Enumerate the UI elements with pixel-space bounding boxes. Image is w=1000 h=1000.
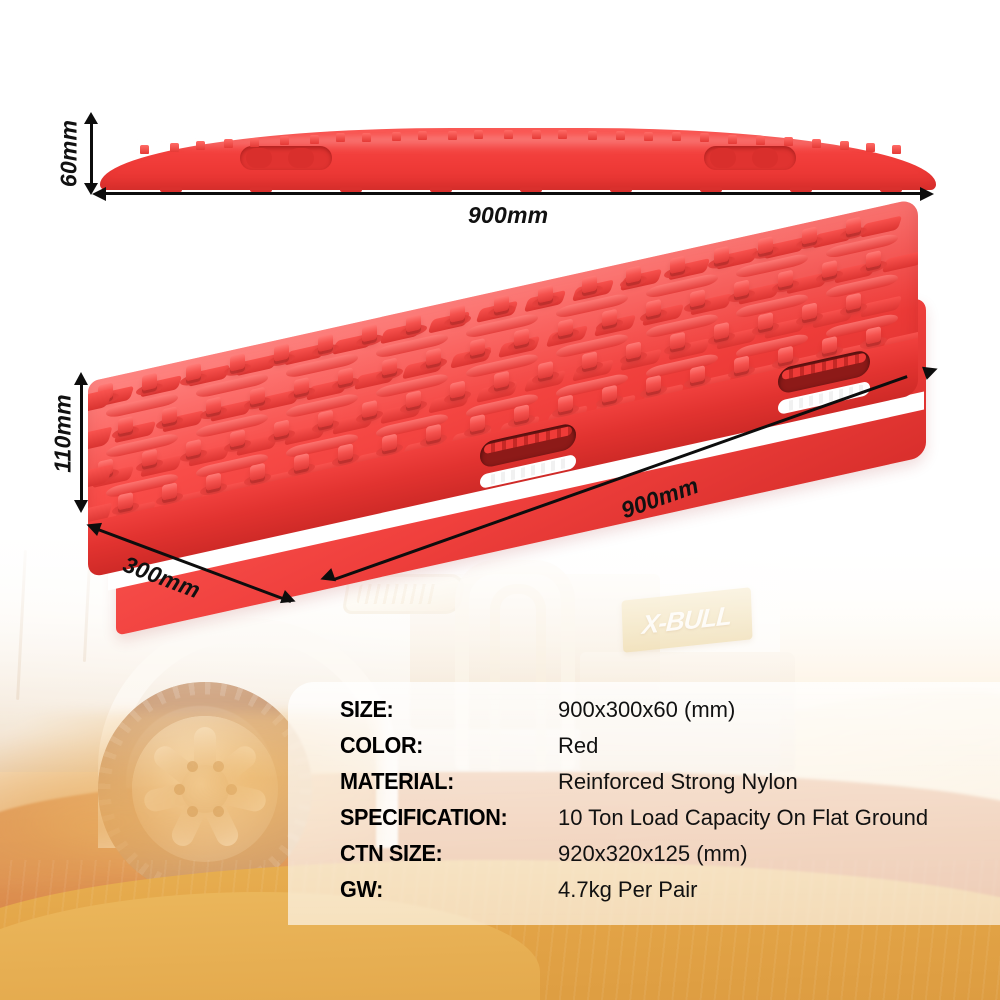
side-profile-tread-stud	[280, 136, 289, 145]
product-infographic: X-BULL	[0, 0, 1000, 1000]
spec-value: 4.7kg Per Pair	[558, 877, 697, 903]
side-profile-tread-stud	[644, 132, 653, 141]
side-profile-tread-stud	[448, 131, 457, 140]
side-profile-tread-stud	[588, 131, 597, 140]
spec-label: GW:	[340, 876, 545, 903]
dim-60-arrow-up	[84, 112, 98, 124]
side-profile-tread-stud	[700, 133, 709, 142]
spec-row: SPECIFICATION:10 Ton Load Capacity On Fl…	[340, 804, 1000, 840]
side-profile-tread-stud	[616, 131, 625, 140]
side-profile-tread-stud	[224, 139, 233, 148]
side-profile-tread-stud	[672, 132, 681, 141]
side-profile-tread-stud	[892, 145, 901, 154]
dim-900s-arrow-left	[92, 187, 106, 201]
spec-value: 900x300x60 (mm)	[558, 697, 735, 723]
dim-900m-label: 900mm	[617, 472, 702, 524]
dim-900s-arrow-right	[920, 187, 934, 201]
dim-900m-arrow-left	[318, 568, 336, 586]
dim-110-line	[80, 384, 83, 502]
side-profile-tread-stud	[728, 135, 737, 144]
dimension-900mm-main: 900mm	[316, 372, 956, 602]
side-profile-body	[100, 128, 936, 190]
side-profile-tread-stud	[310, 135, 319, 144]
dimension-300mm: 300mm	[88, 520, 308, 600]
spec-label: SPECIFICATION:	[340, 804, 545, 831]
side-handle-cutout-left	[240, 146, 332, 170]
spec-value: 920x320x125 (mm)	[558, 841, 748, 867]
side-profile-tread-stud	[866, 143, 875, 152]
specification-panel: SIZE:900x300x60 (mm)COLOR:RedMATERIAL:Re…	[288, 682, 1000, 925]
dim-110-arrow-down	[74, 500, 88, 513]
side-profile-tread-stud	[336, 133, 345, 142]
spec-value: Red	[558, 733, 598, 759]
dim-60-line	[90, 122, 93, 184]
side-profile-tread-stud	[362, 133, 371, 142]
spec-value: 10 Ton Load Capacity On Flat Ground	[558, 805, 928, 831]
door-seam	[16, 550, 27, 700]
dim-900s-line	[104, 192, 924, 195]
spec-label: MATERIAL:	[340, 768, 545, 795]
dim-900m-line	[333, 375, 907, 581]
dim-110-label: 110mm	[50, 375, 77, 493]
side-profile-tread-stud	[140, 145, 149, 154]
side-profile-tread-stud	[812, 139, 821, 148]
side-profile-tread-stud	[504, 130, 513, 139]
spec-row: CTN SIZE:920x320x125 (mm)	[340, 840, 1000, 876]
spec-row: SIZE:900x300x60 (mm)	[340, 696, 1000, 732]
side-profile-tread-stud	[532, 130, 541, 139]
brand-logo-text: X-BULL	[641, 600, 732, 641]
side-profile-tread-stud	[196, 141, 205, 150]
spec-label: SIZE:	[340, 696, 545, 723]
side-profile-tread-stud	[392, 132, 401, 141]
side-profile-tread-stud	[756, 136, 765, 145]
side-handle-cutout-right	[704, 146, 796, 170]
spec-label: COLOR:	[340, 732, 545, 759]
spec-value: Reinforced Strong Nylon	[558, 769, 798, 795]
side-profile-tread-stud	[418, 131, 427, 140]
side-profile-tread-stud	[784, 137, 793, 146]
product-side-profile	[100, 104, 936, 190]
side-profile-tread-stud	[474, 130, 483, 139]
dim-60-label: 60mm	[56, 109, 83, 199]
side-profile-tread-stud	[840, 141, 849, 150]
side-profile-tread-stud	[558, 130, 567, 139]
spec-row: GW:4.7kg Per Pair	[340, 876, 1000, 912]
dim-900s-label: 900mm	[468, 202, 548, 229]
spec-row: MATERIAL:Reinforced Strong Nylon	[340, 768, 1000, 804]
side-profile-tread-stud	[250, 138, 259, 147]
dim-300-label: 300mm	[119, 551, 204, 604]
side-profile-tread-stud	[170, 143, 179, 152]
spec-label: CTN SIZE:	[340, 840, 545, 867]
spec-row: COLOR:Red	[340, 732, 1000, 768]
